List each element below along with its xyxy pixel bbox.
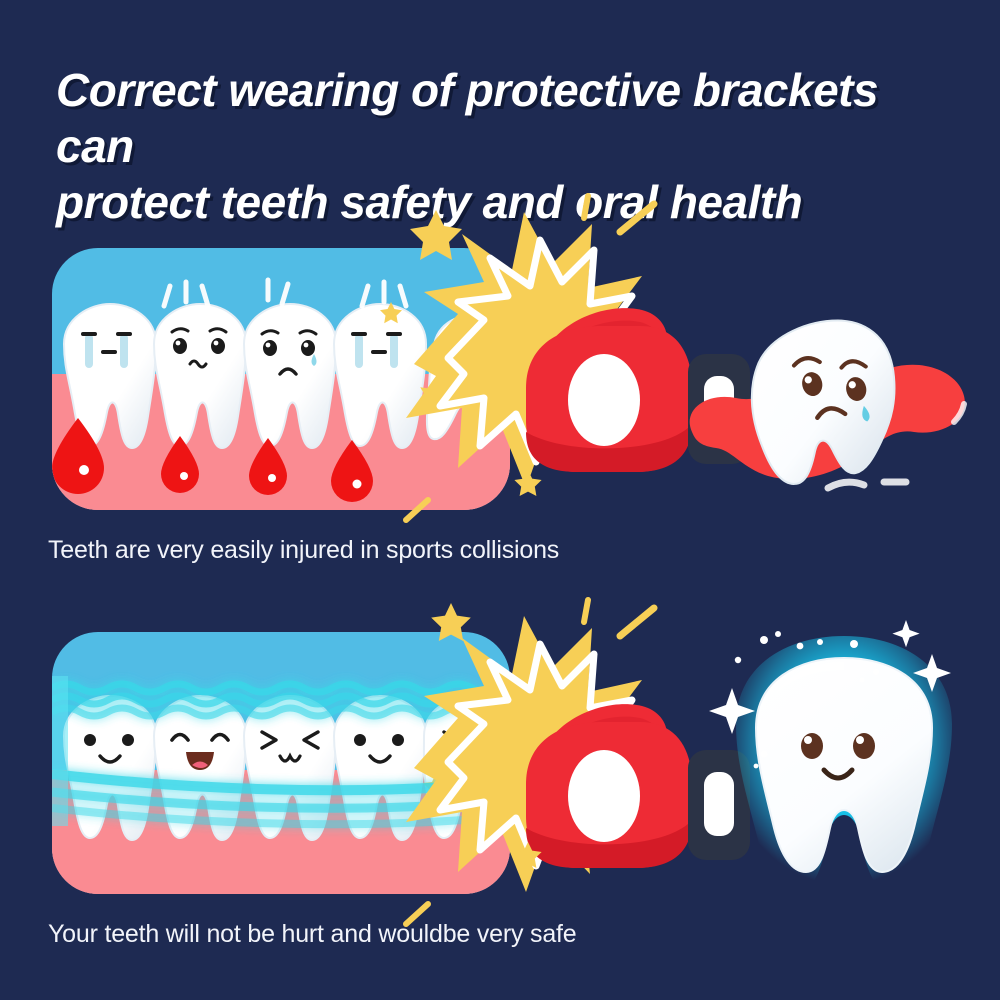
star-icon <box>406 206 466 266</box>
star-icon <box>378 300 404 326</box>
knocked-out-tooth-result <box>676 310 976 520</box>
glove-white-patch <box>568 354 640 446</box>
caption-protected: Your teeth will not be hurt and wouldbe … <box>48 920 577 949</box>
caption-unprotected: Teeth are very easily injured in sports … <box>48 536 559 565</box>
star-icon <box>428 600 474 646</box>
infographic-canvas: Correct wearing of protective brackets c… <box>0 0 1000 1000</box>
star-icon <box>512 468 544 500</box>
impact-speed-lines <box>164 280 406 306</box>
tooth-shape <box>756 658 932 872</box>
healthy-tooth-result <box>694 614 994 914</box>
glove-white-patch <box>568 750 640 842</box>
star-icon <box>512 840 544 872</box>
